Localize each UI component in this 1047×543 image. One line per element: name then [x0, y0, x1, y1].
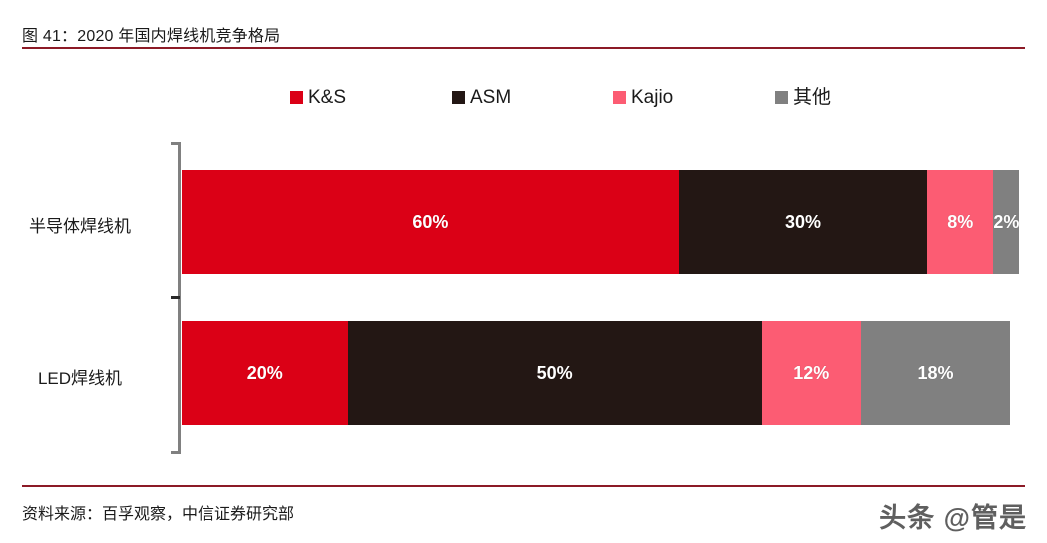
bar-segment-value-label: 60% — [412, 213, 448, 231]
chart-plot-area: 半导体焊线机 LED焊线机 60%30%8%2% 20%50%12%18% — [0, 120, 1047, 465]
legend-label: K&S — [308, 88, 346, 107]
legend-swatch-icon — [775, 91, 788, 104]
legend-swatch-icon — [290, 91, 303, 104]
header-divider — [22, 47, 1025, 49]
bar-segment[interactable]: 2% — [993, 170, 1019, 274]
bar-segment[interactable]: 50% — [348, 321, 762, 425]
bar-segment[interactable]: 18% — [861, 321, 1010, 425]
legend-swatch-icon — [452, 91, 465, 104]
source-note: 资料来源：百孚观察，中信证券研究部 — [22, 500, 294, 524]
watermark: 头条 @管是 — [879, 496, 1027, 535]
bar-segment-value-label: 12% — [793, 364, 829, 382]
legend-item-k-s[interactable]: K&S — [290, 83, 346, 111]
legend-label: Kajio — [631, 88, 673, 107]
legend-item-asm[interactable]: ASM — [452, 83, 511, 111]
legend-item-[interactable]: 其他 — [775, 83, 831, 111]
legend-label: 其他 — [793, 88, 831, 107]
bar-segment[interactable]: 12% — [762, 321, 861, 425]
bar-segment[interactable]: 60% — [182, 170, 679, 274]
bar-segment-value-label: 50% — [537, 364, 573, 382]
bar-segment-value-label: 30% — [785, 213, 821, 231]
category-label-semiconductor: 半导体焊线机 — [0, 212, 160, 237]
page-title: 图 41：2020 年国内焊线机竞争格局 — [22, 22, 280, 46]
y-axis-cap-bottom — [171, 451, 181, 454]
legend-swatch-icon — [613, 91, 626, 104]
bar-segment-value-label: 2% — [993, 213, 1019, 231]
figure-header: 图 41：2020 年国内焊线机竞争格局 — [0, 0, 1047, 50]
bar-row: 60%30%8%2% — [182, 170, 1010, 274]
bar-segment[interactable]: 30% — [679, 170, 927, 274]
y-axis-tick-middle — [171, 296, 180, 299]
chart-legend: K&SASMKajio其他 — [180, 83, 1010, 111]
footer-divider — [22, 485, 1025, 487]
bar-segment-value-label: 18% — [917, 364, 953, 382]
bar-segment[interactable]: 20% — [182, 321, 348, 425]
bar-segment-value-label: 20% — [247, 364, 283, 382]
legend-item-kajio[interactable]: Kajio — [613, 83, 673, 111]
bar-row: 20%50%12%18% — [182, 321, 1010, 425]
legend-label: ASM — [470, 88, 511, 107]
category-label-led: LED焊线机 — [0, 364, 160, 389]
y-axis-cap-top — [171, 142, 181, 145]
bar-segment[interactable]: 8% — [927, 170, 993, 274]
bar-segment-value-label: 8% — [947, 213, 973, 231]
